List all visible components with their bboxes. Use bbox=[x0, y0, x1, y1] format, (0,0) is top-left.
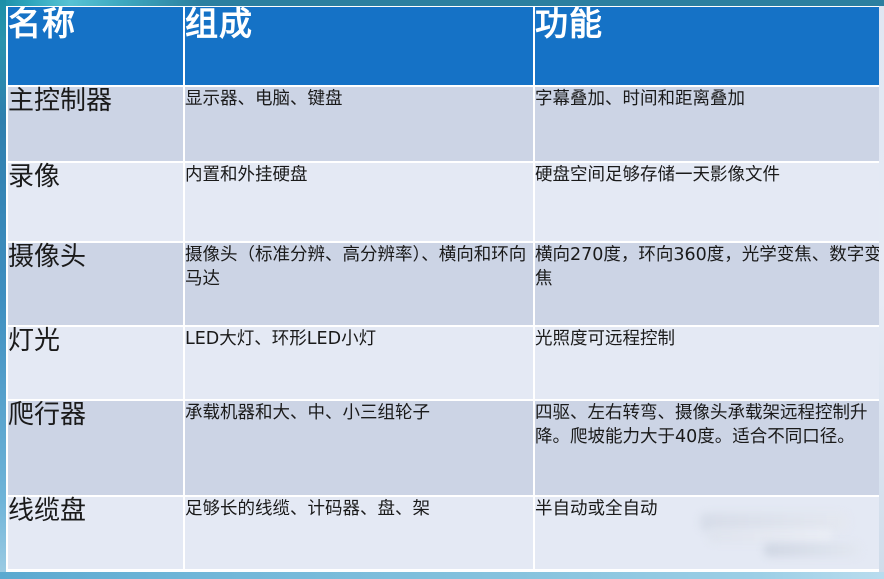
table-row: 线缆盘 足够长的线缆、计码器、盘、架 半自动或全自动 bbox=[8, 497, 884, 569]
column-header-function: 功能 bbox=[535, 7, 884, 85]
cell-name: 主控制器 bbox=[8, 87, 183, 161]
cell-function: 字幕叠加、时间和距离叠加 bbox=[535, 87, 884, 161]
slide-left-edge-accent bbox=[0, 0, 6, 579]
cell-name: 灯光 bbox=[8, 327, 183, 399]
column-header-name: 名称 bbox=[8, 7, 183, 85]
table-row: 录像 内置和外挂硬盘 硬盘空间足够存储一天影像文件 bbox=[8, 163, 884, 241]
specification-table: 名称 组成 功能 主控制器 显示器、电脑、键盘 字幕叠加、时间和距离叠加 录像 … bbox=[6, 5, 884, 571]
table-body: 主控制器 显示器、电脑、键盘 字幕叠加、时间和距离叠加 录像 内置和外挂硬盘 硬… bbox=[8, 87, 884, 569]
cell-parts: 摄像头（标准分辨、高分辨率）、横向和环向马达 bbox=[185, 243, 533, 325]
cell-parts: 承载机器和大、中、小三组轮子 bbox=[185, 401, 533, 495]
table-header: 名称 组成 功能 bbox=[8, 7, 884, 85]
cell-parts: 显示器、电脑、键盘 bbox=[185, 87, 533, 161]
slide-canvas: 名称 组成 功能 主控制器 显示器、电脑、键盘 字幕叠加、时间和距离叠加 录像 … bbox=[0, 0, 884, 579]
table-header-row: 名称 组成 功能 bbox=[8, 7, 884, 85]
cell-name: 摄像头 bbox=[8, 243, 183, 325]
cell-parts: 内置和外挂硬盘 bbox=[185, 163, 533, 241]
cell-function: 横向270度，环向360度，光学变焦、数字变焦 bbox=[535, 243, 884, 325]
table-row: 主控制器 显示器、电脑、键盘 字幕叠加、时间和距离叠加 bbox=[8, 87, 884, 161]
cell-parts: LED大灯、环形LED小灯 bbox=[185, 327, 533, 399]
cell-name: 爬行器 bbox=[8, 401, 183, 495]
cell-name: 线缆盘 bbox=[8, 497, 183, 569]
table-row: 灯光 LED大灯、环形LED小灯 光照度可远程控制 bbox=[8, 327, 884, 399]
cell-function: 四驱、左右转弯、摄像头承载架远程控制升降。爬坡能力大于40度。适合不同口径。 bbox=[535, 401, 884, 495]
cell-name: 录像 bbox=[8, 163, 183, 241]
slide-bottom-edge-accent bbox=[0, 572, 884, 579]
cell-function: 半自动或全自动 bbox=[535, 497, 884, 569]
cell-parts: 足够长的线缆、计码器、盘、架 bbox=[185, 497, 533, 569]
cell-function: 硬盘空间足够存储一天影像文件 bbox=[535, 163, 884, 241]
table-row: 摄像头 摄像头（标准分辨、高分辨率）、横向和环向马达 横向270度，环向360度… bbox=[8, 243, 884, 325]
slide-top-edge-accent bbox=[0, 0, 884, 6]
column-header-parts: 组成 bbox=[185, 7, 533, 85]
cell-function: 光照度可远程控制 bbox=[535, 327, 884, 399]
slide-right-edge-accent bbox=[879, 0, 884, 579]
table-row: 爬行器 承载机器和大、中、小三组轮子 四驱、左右转弯、摄像头承载架远程控制升降。… bbox=[8, 401, 884, 495]
